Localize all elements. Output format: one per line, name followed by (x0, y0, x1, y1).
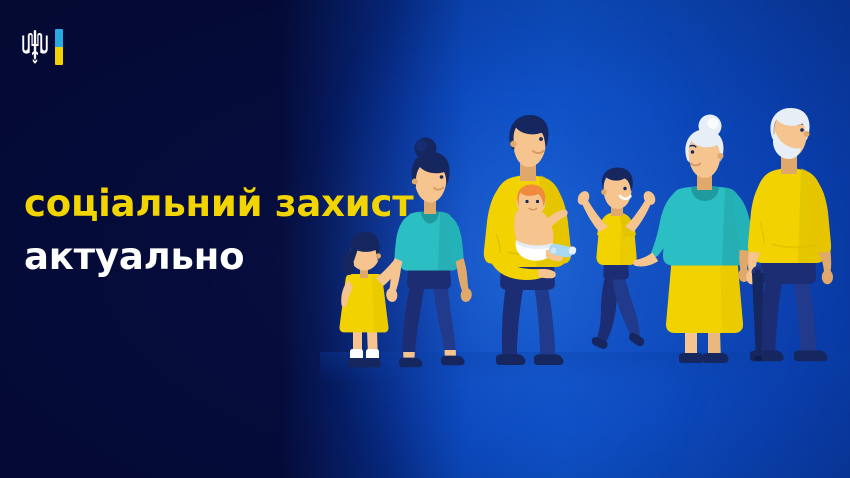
figure-grandmother (633, 115, 753, 364)
ukraine-trident-emblem (22, 29, 48, 65)
figure-grandfather (746, 108, 833, 361)
brand-logo (22, 25, 82, 69)
figure-mother (385, 138, 472, 368)
flag-bar-blue (55, 29, 63, 47)
poster-canvas: соціальний захист актуально (0, 0, 850, 478)
flag-bar-yellow (55, 47, 63, 65)
family-generations-illustration (320, 84, 850, 384)
ukraine-flag-bar (55, 29, 63, 65)
